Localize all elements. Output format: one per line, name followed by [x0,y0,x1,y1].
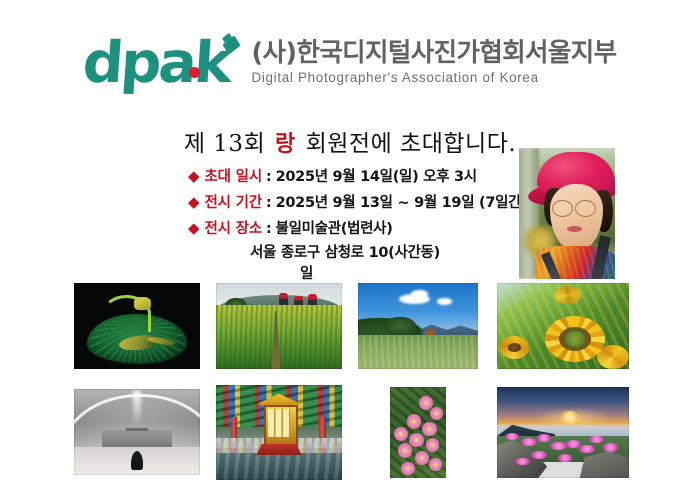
detail-value: 2025년 9월 13일 ~ 9월 19일 (7일간) [276,190,528,216]
sunflower-photo[interactable] [497,283,629,369]
invitation-poster: dpak (사)한국디지털사진가협회서울지부 Digital Photograp… [0,0,700,500]
diamond-bullet-icon: ◆ [188,164,200,190]
venue-address-overflow: 일 [300,264,528,284]
dpak-logo: dpak [83,36,243,98]
poster-header: dpak (사)한국디지털사진가협회서울지부 Digital Photograp… [0,36,700,98]
lotus-leaf-photo[interactable] [74,283,200,369]
title-suffix: 회원전에 초대합니다. [306,131,517,157]
artist-portrait-photo [519,148,615,279]
detail-row-invitation-datetime: ◆ 초대 일시 : 2025년 9월 14일(일) 오후 3시 [188,164,528,190]
detail-value: 2025년 9월 14일(일) 오후 3시 [276,164,477,190]
detail-separator: : [262,190,276,216]
detail-separator: : [262,216,276,242]
photo-border [216,283,342,369]
temple-interior-photo[interactable] [74,389,200,475]
eyeglasses-icon [552,200,600,217]
detail-label: 초대 일시 [205,164,262,190]
organization-name-block: (사)한국디지털사진가협회서울지부 Digital Photographer's… [251,36,616,86]
organization-name-english: Digital Photographer's Association of Ko… [251,69,616,86]
detail-row-venue: ◆ 전시 장소 : 불일미술관(법련사) [188,216,528,242]
lips [567,226,582,232]
detail-row-exhibition-period: ◆ 전시 기간 : 2025년 9월 13일 ~ 9월 19일 (7일간) [188,190,528,216]
dpak-logo-wordmark: dpak [81,32,231,94]
blue-sky-field-photo[interactable] [358,283,478,369]
photo-border [358,283,478,369]
photo-border [497,387,629,478]
detail-label: 전시 장소 [205,216,262,242]
barley-field-photo[interactable] [216,283,342,369]
photo-border [390,387,446,478]
detail-value: 불일미술관(법련사) [276,216,393,242]
diamond-bullet-icon: ◆ [188,190,200,216]
diamond-bullet-icon: ◆ [188,216,200,242]
pavilion-lantern-photo[interactable] [216,385,342,480]
photo-border [74,389,200,475]
title-prefix: 제 13회 [184,131,265,157]
sunrise-azalea-photo[interactable] [497,387,629,478]
pink-peony-photo[interactable] [390,387,446,478]
photo-border [74,283,200,369]
detail-separator: : [262,164,276,190]
photo-border [497,283,629,369]
title-highlight: 랑 [273,132,298,157]
venue-address: 서울 종로구 삼청로 10(사간동) [250,242,528,264]
organization-name-korean: (사)한국디지털사진가협회서울지부 [251,38,616,68]
event-details: ◆ 초대 일시 : 2025년 9월 14일(일) 오후 3시 ◆ 전시 기간 … [188,164,528,284]
photo-border [216,385,342,480]
detail-label: 전시 기간 [205,190,262,216]
